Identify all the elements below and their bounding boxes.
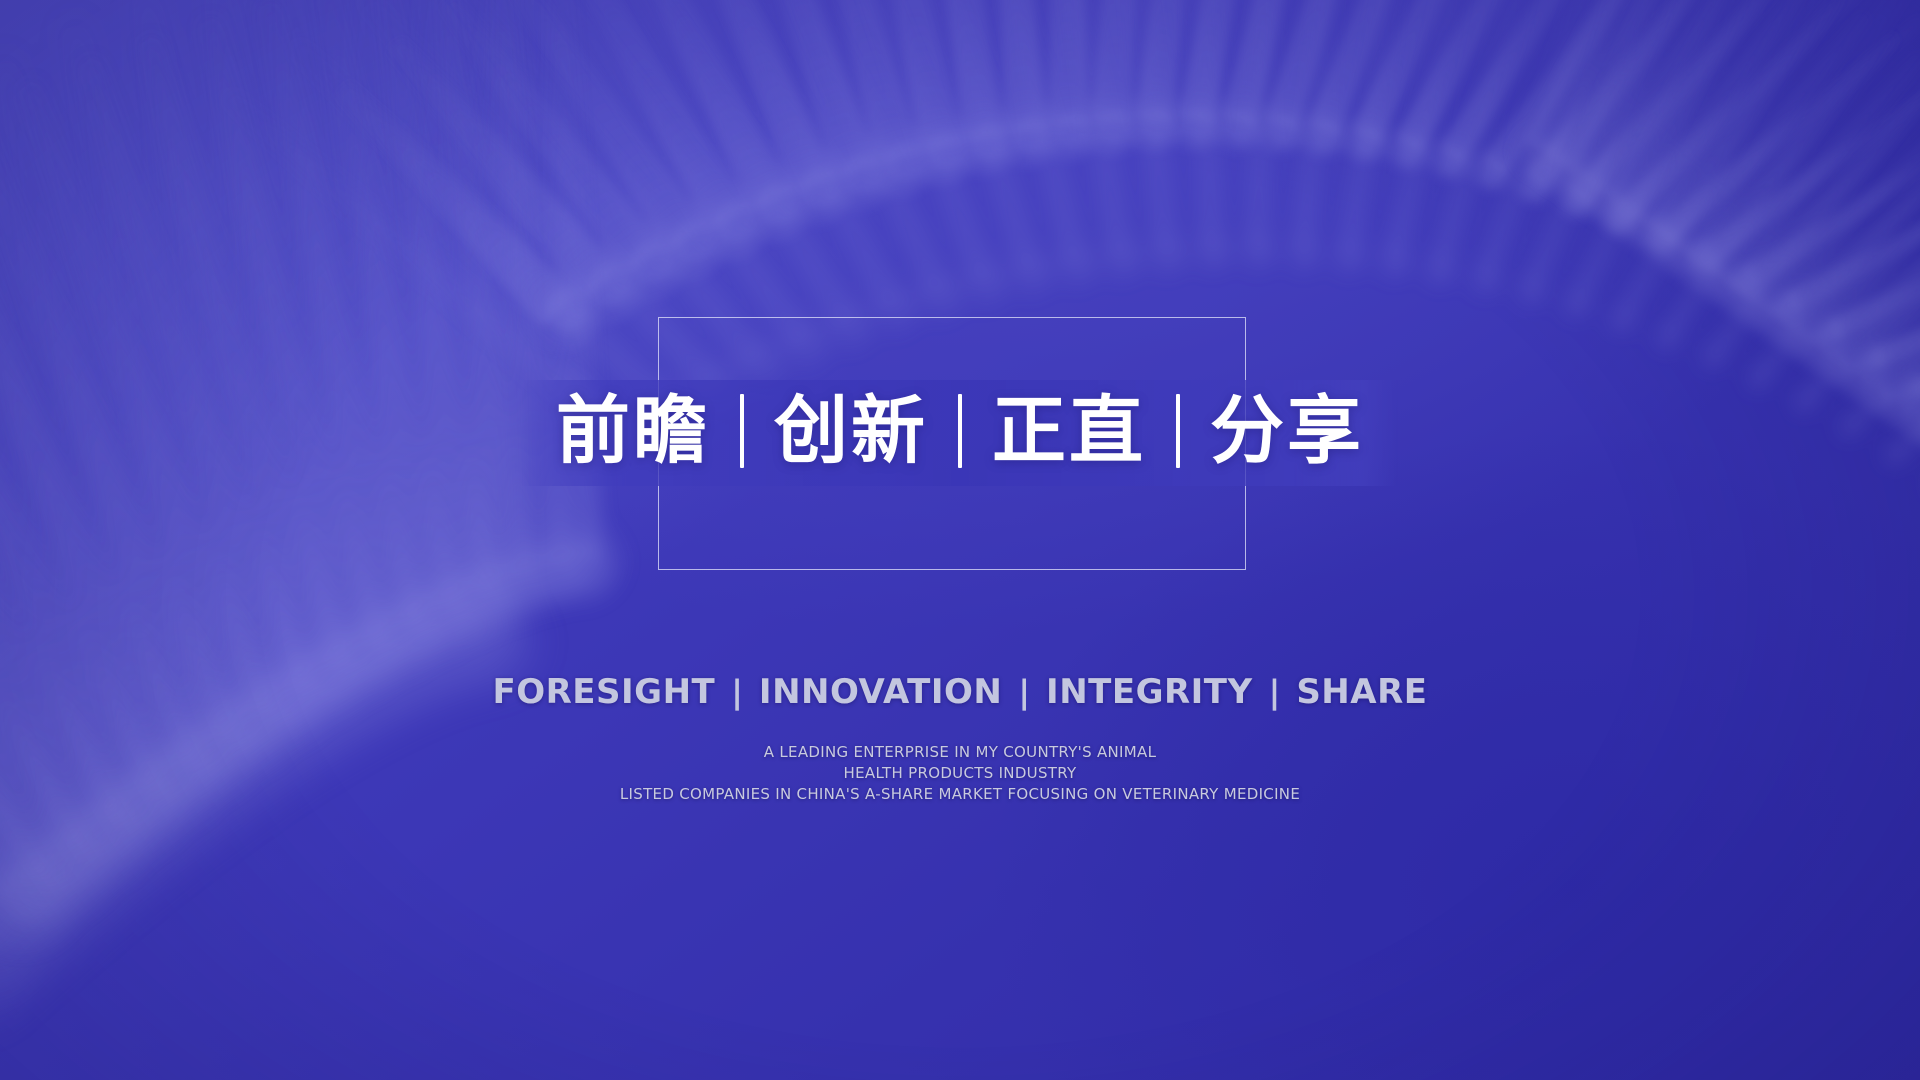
headline: 前瞻 创新 正直 分享 [522,380,1398,486]
banner-content: 前瞻 创新 正直 分享 FORESIGHT | INNOVATION | INT… [0,0,1920,1080]
banner-stage: 前瞻 创新 正直 分享 FORESIGHT | INNOVATION | INT… [0,0,1920,1080]
headline-separator [740,394,744,468]
tagline: FORESIGHT | INNOVATION | INTEGRITY | SHA… [493,672,1428,712]
headline-block: 前瞻 创新 正直 分享 [0,380,1920,486]
caption-line-3: LISTED COMPANIES IN CHINA'S A-SHARE MARK… [0,784,1920,805]
tagline-word-share: SHARE [1296,672,1427,712]
tagline-word-innovation: INNOVATION [759,672,1002,712]
caption-block: A LEADING ENTERPRISE IN MY COUNTRY'S ANI… [0,742,1920,805]
tagline-separator: | [731,676,743,708]
tagline-word-integrity: INTEGRITY [1046,672,1253,712]
caption-line-2: HEALTH PRODUCTS INDUSTRY [0,763,1920,784]
headline-separator [958,394,962,468]
headline-separator [1176,394,1180,468]
headline-word-integrity: 正直 [992,394,1146,468]
headline-word-share: 分享 [1210,394,1364,468]
headline-word-foresight: 前瞻 [556,394,710,468]
tagline-word-foresight: FORESIGHT [493,672,716,712]
tagline-separator: | [1269,676,1281,708]
tagline-block: FORESIGHT | INNOVATION | INTEGRITY | SHA… [0,672,1920,712]
caption-line-1: A LEADING ENTERPRISE IN MY COUNTRY'S ANI… [0,742,1920,763]
headline-word-innovation: 创新 [774,394,928,468]
tagline-separator: | [1018,676,1030,708]
